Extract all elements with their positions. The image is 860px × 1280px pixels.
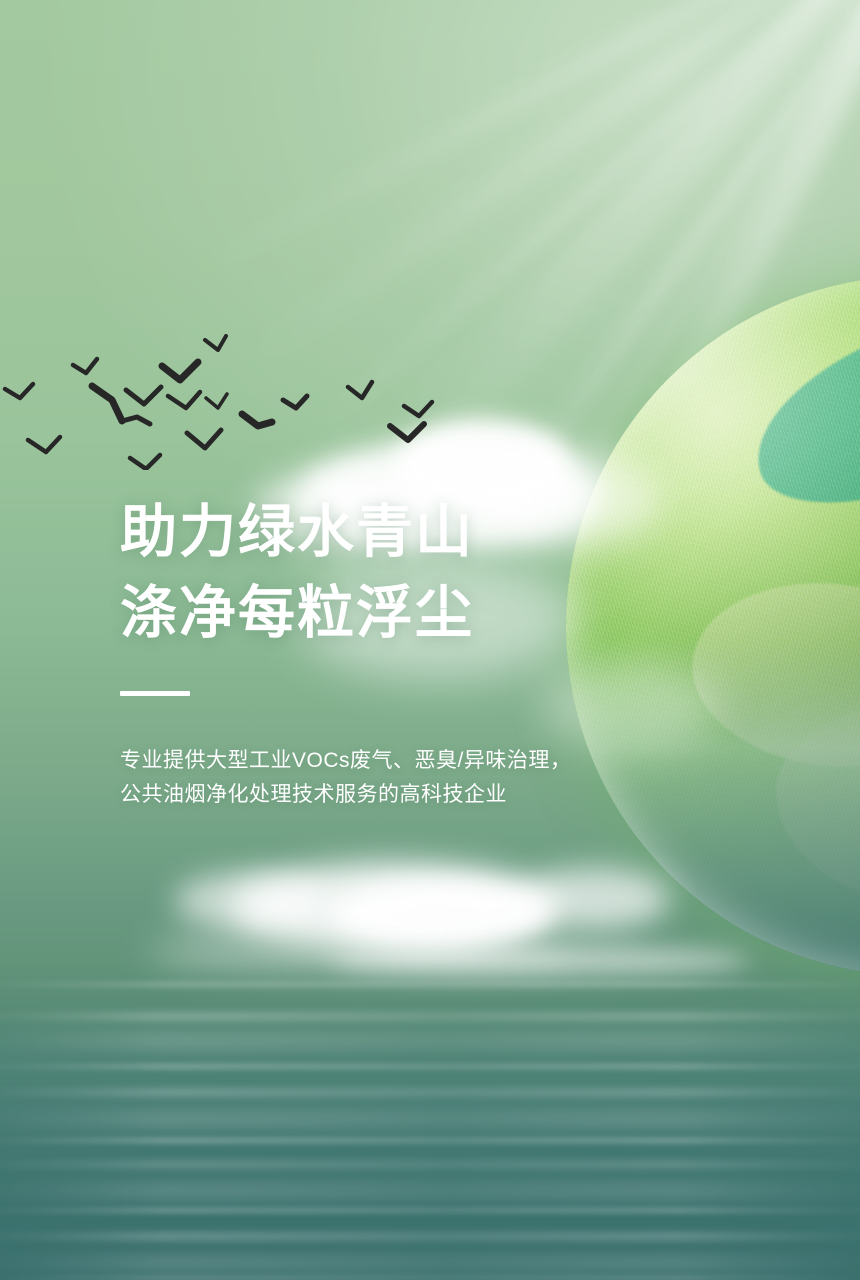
bird-icon — [187, 430, 221, 448]
divider-rule — [120, 691, 190, 696]
cloud-icon — [330, 880, 550, 946]
bird-icon — [348, 382, 372, 398]
bird-icon — [206, 394, 227, 408]
bird-icon — [92, 386, 122, 421]
cloud-icon — [330, 945, 750, 979]
cloud-icon — [175, 872, 325, 930]
bird-icon — [242, 414, 272, 426]
bird-icon — [168, 392, 200, 408]
bird-icon — [5, 384, 33, 398]
cloud-icon — [150, 930, 570, 974]
cloud-icon — [230, 862, 560, 950]
headline-line-1: 助力绿水青山 — [120, 492, 760, 573]
headline-line-2: 涤净每粒浮尘 — [120, 573, 760, 654]
bird-icon — [130, 455, 160, 469]
subtitle-line-1: 专业提供大型工业VOCs废气、恶臭/异味治理， — [120, 744, 760, 778]
water-surface — [0, 960, 860, 1280]
bird-icon — [122, 417, 150, 424]
bird-icon — [73, 359, 97, 373]
subtitle-line-2: 公共油烟净化处理技术服务的高科技企业 — [120, 778, 760, 812]
cloud-icon — [520, 868, 670, 930]
bird-icon — [162, 362, 198, 380]
bird-flock — [0, 330, 470, 470]
bird-icon — [126, 387, 161, 404]
hero-poster: 助力绿水青山 涤净每粒浮尘 专业提供大型工业VOCs废气、恶臭/异味治理， 公共… — [0, 0, 860, 1280]
bird-icon — [390, 424, 424, 440]
bird-icon — [404, 402, 432, 416]
bird-icon — [283, 396, 307, 408]
bird-icon — [205, 336, 226, 350]
bird-icon — [28, 437, 60, 452]
hero-copy: 助力绿水青山 涤净每粒浮尘 专业提供大型工业VOCs废气、恶臭/异味治理， 公共… — [120, 492, 760, 812]
